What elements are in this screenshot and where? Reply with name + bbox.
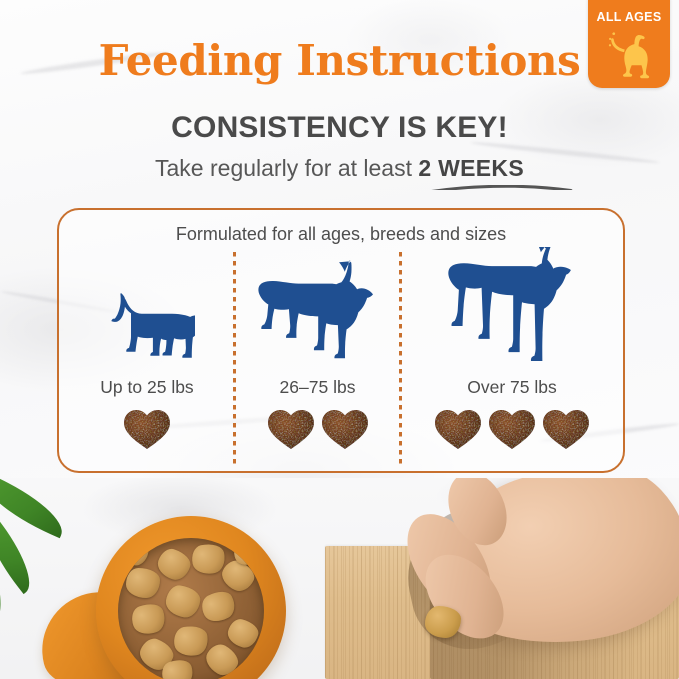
large-dog-icon: [442, 247, 582, 372]
sitting-dog-icon: [601, 27, 657, 84]
size-label-large: Over 75 lbs: [403, 377, 621, 398]
subtitle: CONSISTENCY IS KEY!: [0, 111, 679, 145]
tagline-prefix: Take regularly for at least: [155, 155, 418, 181]
badge-label: ALL AGES: [588, 10, 670, 24]
heart-treat-icon: [320, 407, 370, 451]
tagline: Take regularly for at least 2 WEEKS: [0, 155, 679, 182]
tagline-strong: 2 WEEKS: [418, 155, 524, 181]
heart-treat-icon: [433, 407, 483, 451]
size-column-large: Over 75 lbs: [403, 252, 621, 466]
underline-swoosh: [425, 181, 573, 190]
size-column-small: Up to 25 lbs: [61, 252, 233, 466]
heart-treat-icon: [122, 407, 172, 451]
card-heading: Formulated for all ages, breeds and size…: [59, 224, 623, 245]
size-label-small: Up to 25 lbs: [61, 377, 233, 398]
size-column-medium: 26–75 lbs: [237, 252, 398, 466]
heart-treat-icon: [541, 407, 591, 451]
page-title: Feeding Instructions: [0, 36, 679, 85]
column-divider-1: [233, 252, 236, 466]
size-label-medium: 26–75 lbs: [237, 377, 398, 398]
infographic-root: Feeding Instructions ALL AGES CONSISTENC…: [0, 0, 679, 679]
feeding-chart-card: Formulated for all ages, breeds and size…: [57, 208, 625, 473]
small-dog-icon: [99, 291, 195, 372]
column-divider-2: [399, 252, 402, 466]
product-photo: [0, 478, 679, 679]
medium-dog-icon: [254, 259, 382, 372]
bowl-contents: [118, 538, 264, 679]
all-ages-badge: ALL AGES: [588, 0, 670, 88]
single-kibble-treat: [425, 606, 461, 638]
heart-treat-icon: [487, 407, 537, 451]
treat-count-small: [61, 407, 233, 451]
treat-count-large: [403, 407, 621, 451]
heart-treat-icon: [266, 407, 316, 451]
treat-count-medium: [237, 407, 398, 451]
